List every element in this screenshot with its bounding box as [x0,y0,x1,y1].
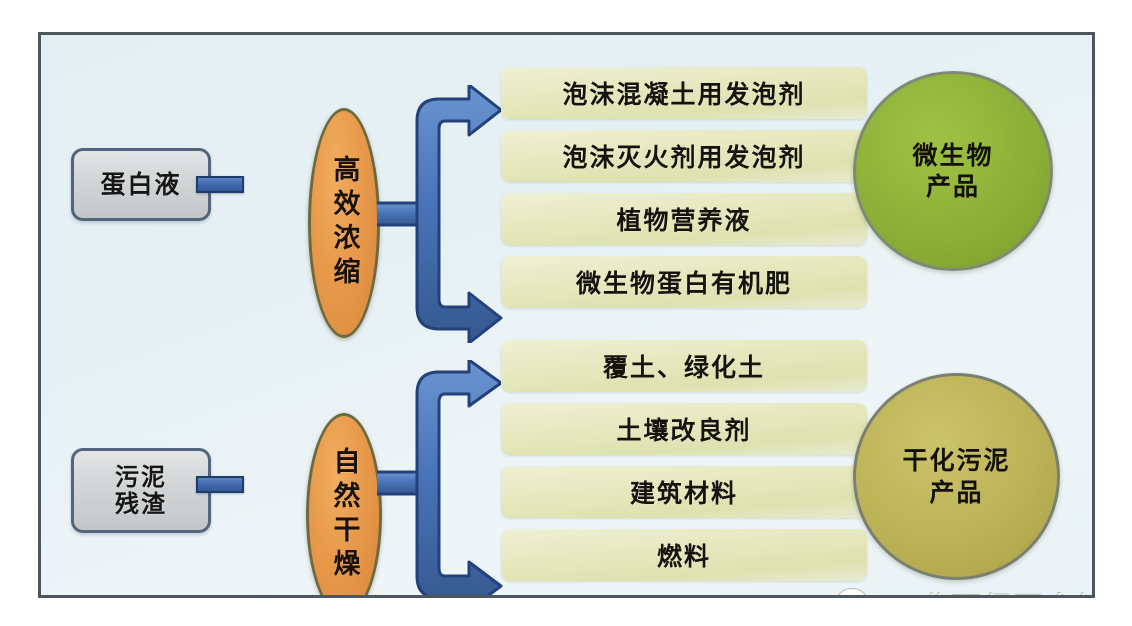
output-circle-dried-sludge-products-label: 干化污泥 产品 [902,445,1010,508]
process-ellipse-drying-label: 自然干燥 [331,447,358,583]
output-circle-dried-sludge-line2: 产品 [902,477,1010,508]
input-box-protein-liquid[interactable]: 蛋白液 [71,148,211,221]
product-bar-sludge-2-label: 建筑材料 [630,474,738,510]
connector-bar-sludge-to-drying [196,476,244,493]
product-bar-protein-3[interactable]: 微生物蛋白有机肥 [501,256,867,308]
input-box-protein-liquid-label: 蛋白液 [100,171,181,199]
watermark-text: 工业环保网水处理 [890,584,1095,598]
input-box-sludge-residue-label: 污泥 残渣 [115,464,167,518]
process-ellipse-concentration-label: 高效浓缩 [331,155,358,291]
connector-bar-protein-to-concentration [196,176,244,193]
product-bar-sludge-1-label: 土壤改良剂 [616,411,751,447]
product-bar-sludge-0[interactable]: 覆土、绿化土 [501,340,867,392]
product-bar-sludge-3-label: 燃料 [657,537,711,573]
process-ellipse-natural-drying[interactable]: 自然干燥 [306,413,382,598]
product-bar-protein-0-label: 泡沫混凝土用发泡剂 [562,75,805,111]
diagram-root: 蛋白液 污泥 残渣 高效浓缩 自然干燥 [0,0,1132,626]
output-circle-dried-sludge-products[interactable]: 干化污泥 产品 [853,373,1060,580]
diagram-panel: 蛋白液 污泥 残渣 高效浓缩 自然干燥 [38,32,1095,598]
product-bar-protein-3-label: 微生物蛋白有机肥 [576,264,792,300]
output-circle-microbial-line1: 微生物 [912,140,993,171]
input-box-sludge-residue-label-line2: 残渣 [115,491,167,518]
product-bar-sludge-3[interactable]: 燃料 [501,529,867,581]
branch-arrow-icon-bottom [377,360,511,598]
product-bar-protein-0[interactable]: 泡沫混凝土用发泡剂 [501,67,867,119]
product-bar-sludge-1[interactable]: 土壤改良剂 [501,403,867,455]
product-bar-protein-2-label: 植物营养液 [616,201,751,237]
product-bar-protein-2[interactable]: 植物营养液 [501,193,867,245]
input-box-sludge-residue[interactable]: 污泥 残渣 [71,448,211,533]
output-circle-microbial-products[interactable]: 微生物 产品 [853,71,1053,271]
output-circle-microbial-products-label: 微生物 产品 [912,140,993,203]
input-box-sludge-residue-label-line1: 污泥 [115,464,167,491]
product-bar-protein-1-label: 泡沫灭火剂用发泡剂 [562,138,805,174]
product-bar-sludge-0-label: 覆土、绿化土 [603,348,765,384]
product-bar-sludge-2[interactable]: 建筑材料 [501,466,867,518]
output-circle-dried-sludge-line1: 干化污泥 [902,445,1010,476]
watermark: 工业环保网水处理 [836,584,1095,598]
output-circle-microbial-line2: 产品 [912,171,993,202]
branch-arrow-icon-top [377,85,511,343]
product-bar-protein-1[interactable]: 泡沫灭火剂用发泡剂 [501,130,867,182]
wechat-icon [836,587,882,598]
process-ellipse-high-efficiency-concentration[interactable]: 高效浓缩 [308,108,380,338]
